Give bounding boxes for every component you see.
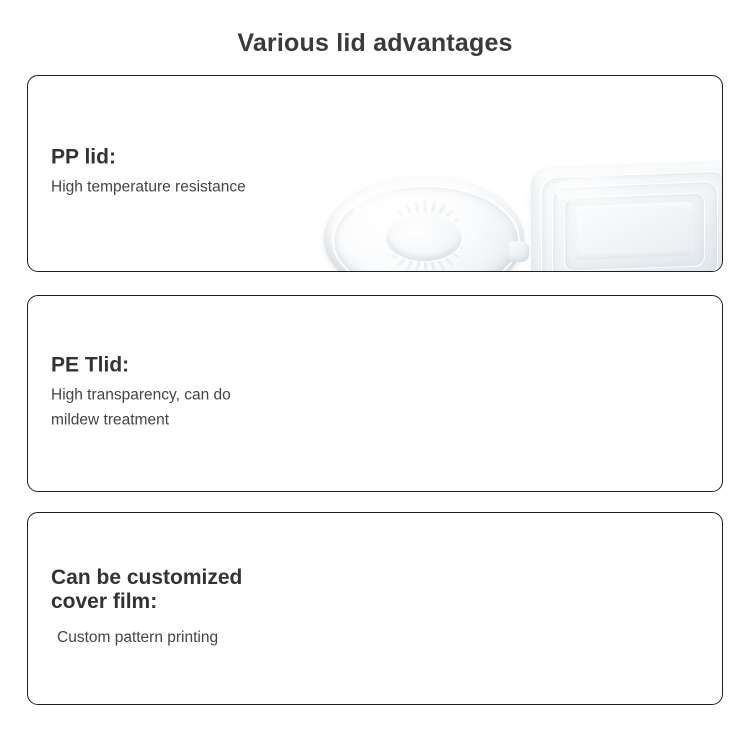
card-text-block: PE Tlid: High transparency, can do milde…	[51, 354, 231, 433]
card-heading: Can be customized cover film:	[51, 566, 242, 614]
card-description: High temperature resistance	[51, 176, 246, 201]
card-description: Custom pattern printing	[51, 619, 242, 650]
card-text-block: PP lid: High temperature resistance	[51, 146, 246, 201]
product-rectangular-pp-lid	[531, 164, 723, 272]
advantage-card-pp-lid: PP lid: High temperature resistance	[27, 75, 723, 272]
card-heading: PP lid:	[51, 146, 246, 171]
advantage-card-cover-film: Can be customized cover film: Custom pat…	[27, 512, 723, 705]
card-text-block: Can be customized cover film: Custom pat…	[51, 566, 242, 650]
page-title: Various lid advantages	[0, 17, 750, 58]
card-heading: PE Tlid:	[51, 354, 231, 379]
advantage-card-pe-tlid: PE Tlid: High transparency, can do milde…	[27, 295, 723, 492]
lid-center-hub	[386, 213, 462, 261]
lid-center-panel	[574, 202, 693, 260]
lid-highlight	[352, 190, 442, 220]
product-round-pp-lid	[324, 176, 524, 272]
lid-side-tab	[507, 241, 529, 262]
card-description: High transparency, can do mildew treatme…	[51, 383, 231, 433]
